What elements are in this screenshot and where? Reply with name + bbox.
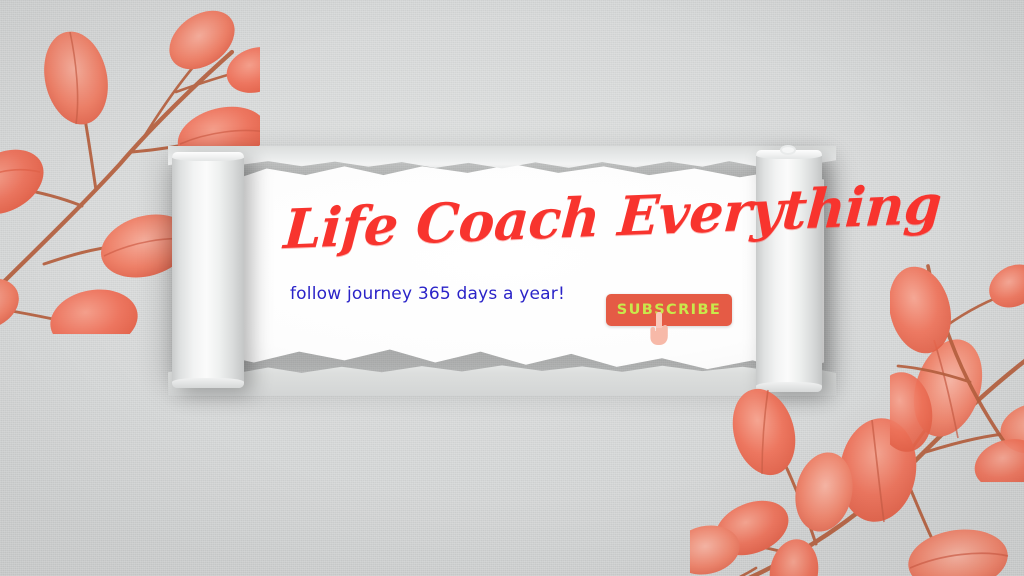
poster-content: Life Coach Everything follow journey 365… (176, 162, 824, 380)
subscribe-button-label: SUBSCRIBE (617, 302, 721, 318)
subscribe-button[interactable]: SUBSCRIBE (606, 294, 732, 326)
page-title: Life Coach Everything (282, 183, 765, 256)
roll-cap-right (780, 145, 796, 155)
poster-subtitle: follow journey 365 days a year! (290, 284, 565, 304)
poster-canvas: Life Coach Everything follow journey 365… (0, 0, 1024, 576)
